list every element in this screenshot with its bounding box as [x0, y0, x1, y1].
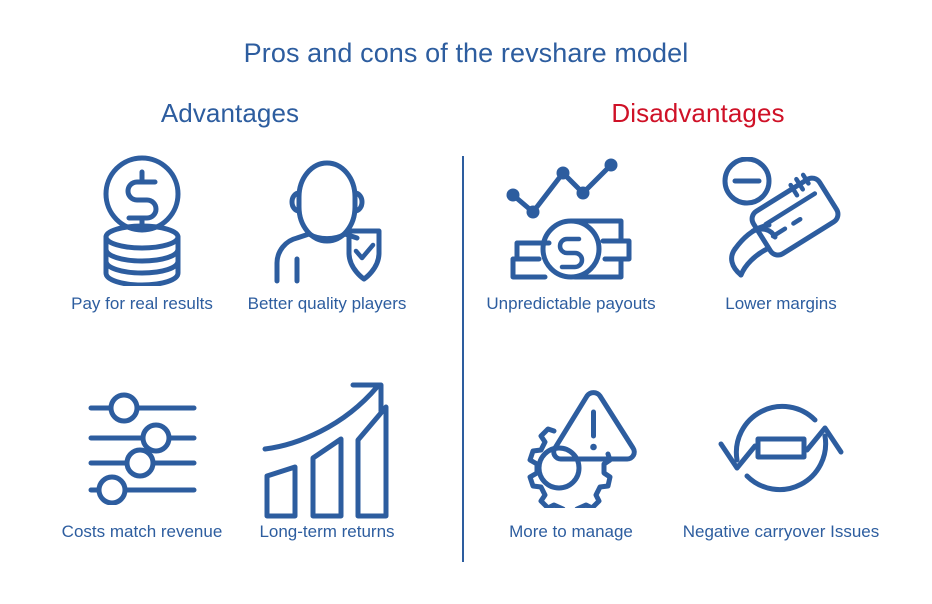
column-heading-advantages: Advantages	[0, 98, 460, 129]
infographic-root: Pros and cons of the revshare model Adva…	[0, 0, 932, 604]
item-label: Unpredictable payouts	[464, 293, 679, 316]
growth-bar-chart-arrow-icon	[257, 380, 397, 515]
coin-stack-dollar-icon	[87, 152, 197, 287]
hand-credit-card-minus-icon	[711, 152, 851, 287]
volatile-line-chart-coins-icon	[505, 152, 637, 287]
sliders-settings-icon	[85, 380, 200, 515]
person-shield-check-icon	[271, 152, 383, 287]
item-label: Better quality players	[220, 293, 435, 316]
item-label: Lower margins	[674, 293, 889, 316]
item-negative-carryover-issues: Negative carryover Issues	[666, 380, 896, 544]
gear-warning-triangle-icon	[505, 380, 637, 515]
item-long-term-returns: Long-term returns	[212, 380, 442, 544]
item-label: Negative carryover Issues	[674, 521, 889, 544]
page-title: Pros and cons of the revshare model	[0, 38, 932, 69]
item-more-to-manage: More to manage	[456, 380, 686, 544]
item-lower-margins: Lower margins	[666, 152, 896, 316]
item-unpredictable-payouts: Unpredictable payouts	[456, 152, 686, 316]
item-label: Long-term returns	[220, 521, 435, 544]
column-heading-disadvantages: Disadvantages	[468, 98, 928, 129]
item-better-quality-players: Better quality players	[212, 152, 442, 316]
item-label: More to manage	[464, 521, 679, 544]
circular-arrows-minus-icon	[713, 380, 849, 515]
